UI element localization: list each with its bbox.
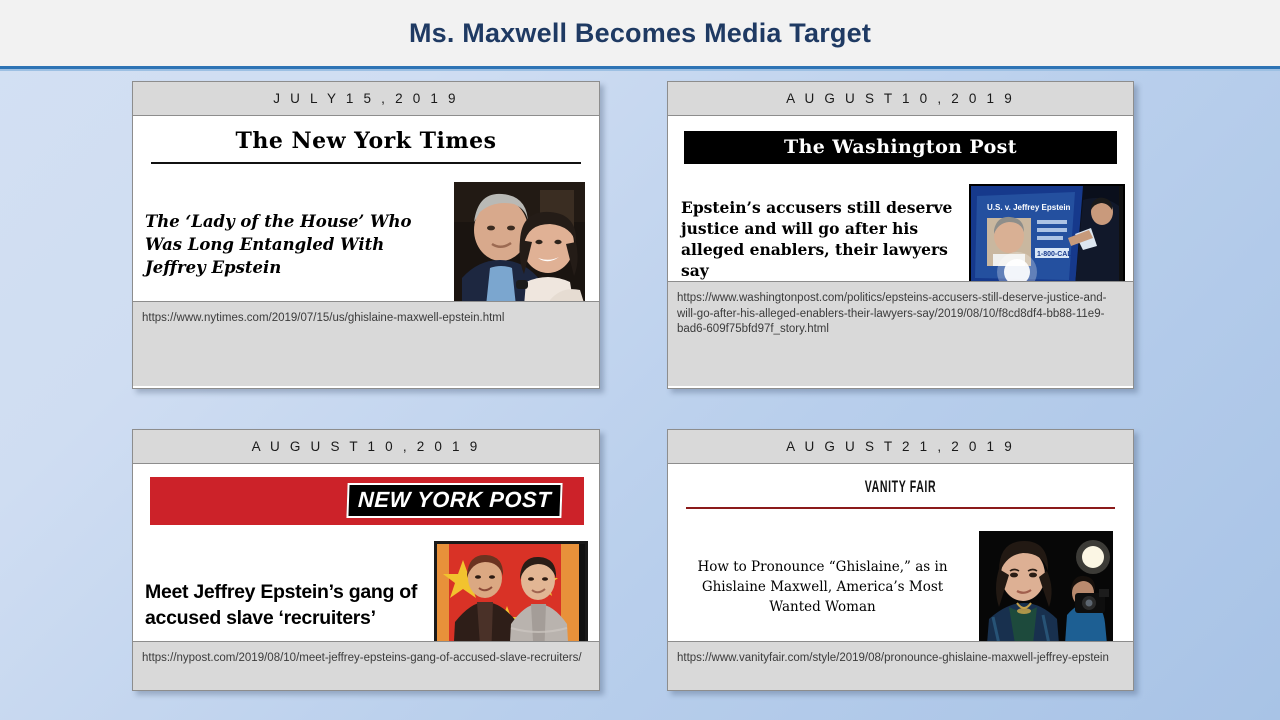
article-card-nytimes[interactable]: J U L Y 1 5 , 2 0 1 9 The New York Times… — [132, 81, 600, 389]
card-body-vanityfair: VANITY FAIR How to Pronounce “Ghislaine,… — [668, 464, 1133, 641]
page-title: Ms. Maxwell Becomes Media Target — [409, 18, 871, 49]
masthead-rule — [151, 162, 581, 164]
card-url-nypost[interactable]: https://nypost.com/2019/08/10/meet-jeffr… — [133, 641, 599, 690]
slide-root: Ms. Maxwell Becomes Media Target J U L Y… — [0, 0, 1280, 720]
card-url-vanityfair[interactable]: https://www.vanityfair.com/style/2019/08… — [668, 641, 1133, 690]
card-date-washingtonpost: A U G U S T 1 0 , 2 0 1 9 — [668, 82, 1133, 116]
masthead-nytimes: The New York Times — [133, 128, 599, 154]
card-url-nytimes[interactable]: https://www.nytimes.com/2019/07/15/us/gh… — [133, 301, 599, 386]
card-date-nytimes: J U L Y 1 5 , 2 0 1 9 — [133, 82, 599, 116]
article-thumbnail-washingtonpost: U.S. v. Jeffrey Epstein 1-800-CALL — [969, 184, 1125, 281]
masthead-vanityfair: VANITY FAIR — [756, 477, 1044, 497]
masthead-nypost-band: NEW YORK POST — [150, 477, 584, 525]
card-date-nypost: A U G U S T 1 0 , 2 0 1 9 — [133, 430, 599, 464]
headline-nytimes[interactable]: The ‘Lady of the House’ Who Was Long Ent… — [133, 210, 454, 279]
article-card-vanityfair[interactable]: A U G U S T 2 1 , 2 0 1 9 VANITY FAIR Ho… — [667, 429, 1134, 691]
slide-header: Ms. Maxwell Becomes Media Target — [0, 0, 1280, 66]
headline-nypost[interactable]: Meet Jeffrey Epstein’s gang of accused s… — [133, 579, 434, 631]
article-thumbnail-nytimes — [454, 182, 585, 301]
headline-vanityfair[interactable]: How to Pronounce “Ghislaine,” as in Ghis… — [668, 557, 979, 617]
masthead-rule-vanityfair — [686, 507, 1115, 509]
masthead-washingtonpost: The Washington Post — [684, 131, 1117, 164]
card-date-vanityfair: A U G U S T 2 1 , 2 0 1 9 — [668, 430, 1133, 464]
headline-washingtonpost[interactable]: Epstein’s accusers still deserve justice… — [668, 197, 969, 281]
masthead-nypost: NEW YORK POST — [346, 483, 562, 518]
article-card-nypost[interactable]: A U G U S T 1 0 , 2 0 1 9 NEW YORK POST … — [132, 429, 600, 691]
card-body-washingtonpost: The Washington Post Epstein’s accusers s… — [668, 116, 1133, 281]
article-thumbnail-vanityfair — [979, 531, 1113, 642]
svg-text:U.S. v. Jeffrey Epstein: U.S. v. Jeffrey Epstein — [987, 203, 1071, 212]
header-divider-soft — [0, 69, 1280, 71]
card-body-nytimes: The New York Times The ‘Lady of the Hous… — [133, 116, 599, 301]
svg-text:1-800-CALL: 1-800-CALL — [1037, 251, 1077, 258]
article-card-washingtonpost[interactable]: A U G U S T 1 0 , 2 0 1 9 The Washington… — [667, 81, 1134, 389]
card-url-washingtonpost[interactable]: https://www.washingtonpost.com/politics/… — [668, 281, 1133, 386]
article-thumbnail-nypost — [434, 541, 588, 641]
card-body-nypost: NEW YORK POST Meet Jeffrey Epstein’s gan… — [133, 464, 599, 641]
